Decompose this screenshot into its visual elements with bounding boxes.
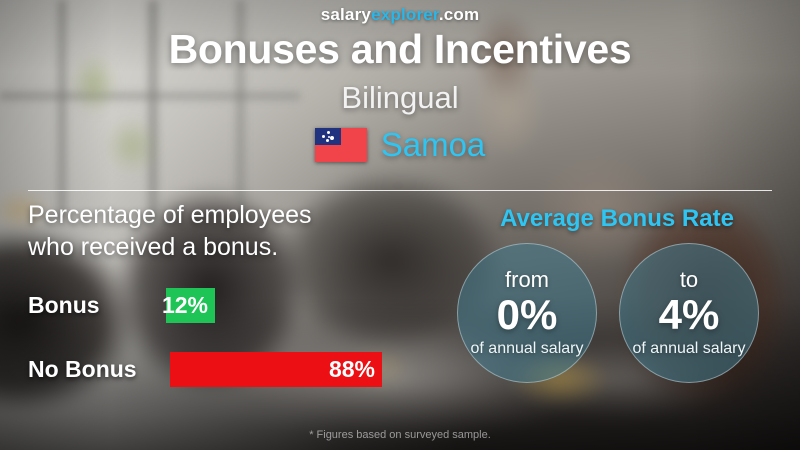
lead-line-2: who received a bonus. bbox=[28, 232, 448, 264]
lead-text: Percentage of employees who received a b… bbox=[28, 200, 448, 263]
bonus-rate-min-suffix: of annual salary bbox=[471, 341, 584, 357]
bar-row-bonus: Bonus 12% bbox=[28, 288, 428, 324]
bonus-rate-max-prefix: to bbox=[680, 269, 698, 291]
logo-part-explorer: explorer bbox=[371, 5, 439, 24]
bonus-bar-chart: Bonus 12% No Bonus 88% bbox=[28, 288, 428, 416]
infographic-canvas: salaryexplorer.com Bonuses and Incentive… bbox=[0, 0, 800, 450]
bar-row-no-bonus: No Bonus 88% bbox=[28, 352, 428, 388]
page-subtitle: Bilingual bbox=[0, 80, 800, 116]
site-logo[interactable]: salaryexplorer.com bbox=[0, 5, 800, 25]
flag-star bbox=[327, 131, 330, 134]
bar-value-bonus: 12% bbox=[162, 292, 208, 319]
country-name: Samoa bbox=[381, 126, 486, 164]
bar-label-bonus: Bonus bbox=[28, 292, 100, 319]
logo-part-domain: .com bbox=[439, 5, 479, 24]
flag-star bbox=[322, 135, 325, 138]
flag-star bbox=[326, 139, 329, 142]
bar-no-bonus: 88% bbox=[170, 352, 382, 387]
header-divider bbox=[28, 190, 772, 191]
logo-part-salary: salary bbox=[321, 5, 371, 24]
footnote: * Figures based on surveyed sample. bbox=[0, 429, 800, 441]
bonus-rate-min-prefix: from bbox=[505, 269, 549, 291]
flag-star bbox=[330, 136, 334, 140]
infographic-content: salaryexplorer.com Bonuses and Incentive… bbox=[0, 0, 800, 450]
samoa-flag-icon bbox=[315, 128, 367, 162]
bonus-rate-min-circle: from 0% of annual salary bbox=[457, 243, 597, 383]
bonus-rate-min-value: 0% bbox=[497, 293, 558, 337]
bar-value-no-bonus: 88% bbox=[329, 356, 375, 383]
bonus-rate-max-circle: to 4% of annual salary bbox=[619, 243, 759, 383]
lead-line-1: Percentage of employees bbox=[28, 200, 448, 232]
flag-star bbox=[328, 136, 330, 138]
page-title: Bonuses and Incentives bbox=[0, 26, 800, 73]
bonus-rate-max-suffix: of annual salary bbox=[633, 341, 746, 357]
country-row: Samoa bbox=[0, 126, 800, 164]
bar-label-no-bonus: No Bonus bbox=[28, 356, 137, 383]
bar-bonus: 12% bbox=[166, 288, 215, 323]
bonus-rate-max-value: 4% bbox=[659, 293, 720, 337]
average-bonus-rate-heading: Average Bonus Rate bbox=[452, 205, 782, 233]
